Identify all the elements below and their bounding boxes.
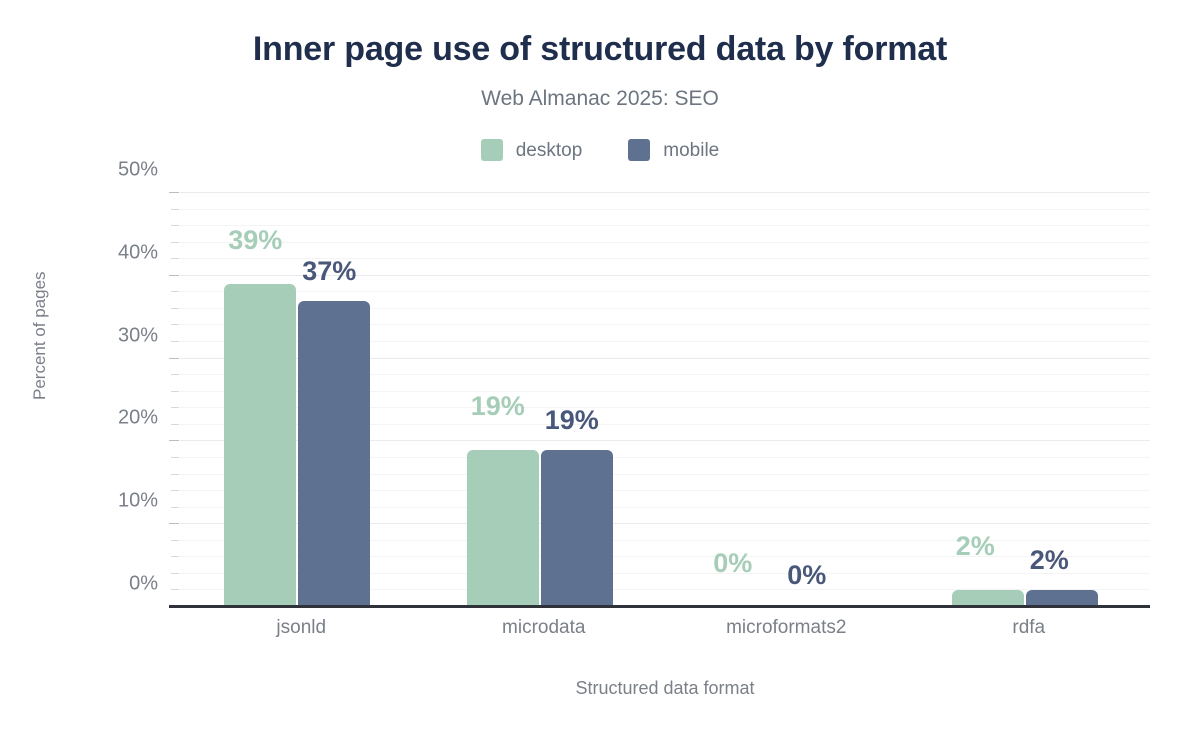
x-axis-line bbox=[169, 605, 1150, 608]
y-tick-mark bbox=[171, 242, 179, 243]
bar-label-rdfa-desktop: 2% bbox=[956, 533, 995, 560]
y-tick-mark bbox=[171, 374, 179, 375]
y-tick-mark bbox=[169, 523, 179, 524]
legend-label-desktop: desktop bbox=[516, 141, 583, 160]
y-tick-mark bbox=[171, 308, 179, 309]
bar-jsonld-desktop[interactable] bbox=[224, 284, 296, 607]
bar-group: 2%2% bbox=[952, 193, 1098, 607]
bar-group: 19%19% bbox=[467, 193, 613, 607]
bar-label-microformats2-mobile: 0% bbox=[787, 562, 826, 589]
y-tick-label: 20% bbox=[78, 407, 158, 430]
bar-label-microdata-desktop: 19% bbox=[471, 393, 525, 420]
bar-label-microformats2-desktop: 0% bbox=[713, 550, 752, 577]
chart-legend: desktop mobile bbox=[0, 139, 1200, 161]
y-tick-label: 10% bbox=[78, 490, 158, 513]
y-tick-mark bbox=[171, 407, 179, 408]
bar-label-microdata-mobile: 19% bbox=[545, 407, 599, 434]
legend-swatch-desktop bbox=[481, 139, 503, 161]
y-tick-label: 30% bbox=[78, 324, 158, 347]
bar-group: 39%37% bbox=[224, 193, 370, 607]
y-tick-mark bbox=[169, 275, 179, 276]
x-tick-label-rdfa: rdfa bbox=[919, 617, 1139, 639]
chart-container: Inner page use of structured data by for… bbox=[0, 0, 1200, 742]
y-tick-mark bbox=[171, 209, 179, 210]
bar-label-jsonld-mobile: 37% bbox=[302, 258, 356, 285]
y-tick-mark bbox=[171, 474, 179, 475]
y-tick-mark bbox=[171, 391, 179, 392]
bar-microdata-desktop[interactable] bbox=[467, 450, 539, 607]
y-tick-mark bbox=[171, 258, 179, 259]
y-tick-mark bbox=[169, 192, 179, 193]
legend-item-mobile[interactable]: mobile bbox=[628, 139, 719, 161]
bar-microdata-mobile[interactable] bbox=[541, 450, 613, 607]
y-tick-label: 0% bbox=[78, 573, 158, 596]
y-tick-mark bbox=[171, 291, 179, 292]
y-tick-mark bbox=[171, 490, 179, 491]
chart-subtitle: Web Almanac 2025: SEO bbox=[0, 87, 1200, 111]
plot-area: 0%10%20%30%40%50% 39%37%19%19%0%0%2%2% j… bbox=[180, 193, 1150, 607]
y-axis-title: Percent of pages bbox=[30, 271, 50, 400]
y-tick-label: 50% bbox=[78, 159, 158, 182]
legend-item-desktop[interactable]: desktop bbox=[481, 139, 583, 161]
y-tick-mark bbox=[169, 358, 179, 359]
y-tick-mark bbox=[171, 341, 179, 342]
legend-swatch-mobile bbox=[628, 139, 650, 161]
bar-label-jsonld-desktop: 39% bbox=[228, 227, 282, 254]
x-tick-label-microformats2: microformats2 bbox=[676, 617, 896, 639]
y-tick-mark bbox=[171, 540, 179, 541]
y-tick-mark bbox=[171, 324, 179, 325]
y-tick-mark bbox=[171, 507, 179, 508]
x-tick-label-microdata: microdata bbox=[434, 617, 654, 639]
bar-group: 0%0% bbox=[709, 193, 855, 607]
bar-label-rdfa-mobile: 2% bbox=[1030, 547, 1069, 574]
legend-label-mobile: mobile bbox=[663, 141, 719, 160]
y-tick-label: 40% bbox=[78, 241, 158, 264]
x-tick-label-jsonld: jsonld bbox=[191, 617, 411, 639]
y-tick-mark bbox=[171, 457, 179, 458]
y-tick-mark bbox=[171, 424, 179, 425]
y-tick-mark bbox=[169, 440, 179, 441]
chart-title: Inner page use of structured data by for… bbox=[0, 30, 1200, 69]
y-tick-mark bbox=[171, 589, 179, 590]
x-axis-title: Structured data format bbox=[180, 678, 1150, 699]
y-tick-mark bbox=[171, 573, 179, 574]
y-tick-mark bbox=[171, 556, 179, 557]
bar-jsonld-mobile[interactable] bbox=[298, 301, 370, 607]
y-tick-mark bbox=[171, 225, 179, 226]
